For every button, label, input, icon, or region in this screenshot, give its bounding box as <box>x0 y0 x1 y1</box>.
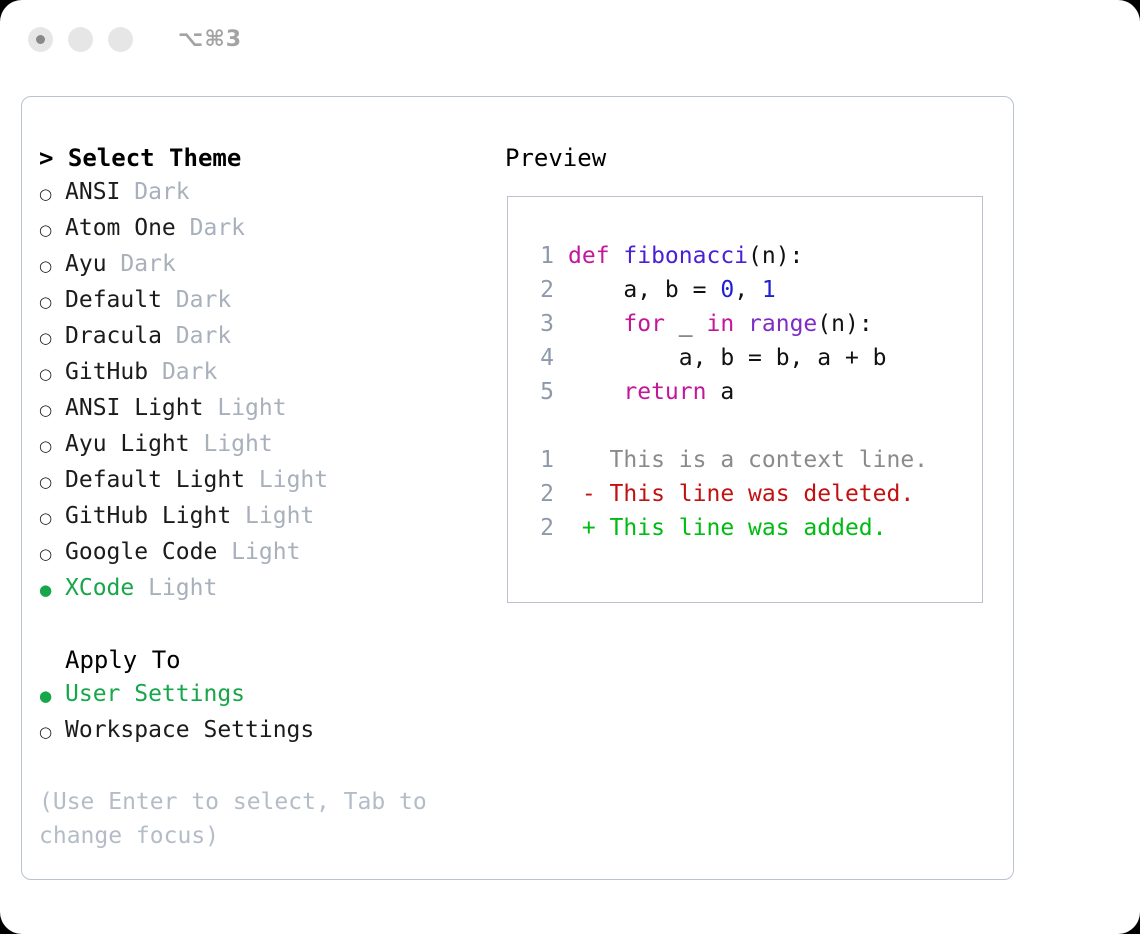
label-spacer <box>231 499 245 533</box>
theme-option-variant: Dark <box>120 247 175 281</box>
theme-option-github-light[interactable]: ○GitHub Light Light <box>39 499 487 535</box>
code-text: a, b = b, a + b <box>568 341 887 375</box>
token-num: 1 <box>762 277 776 303</box>
apply-to-option-workspace-settings[interactable]: ○Workspace Settings <box>39 713 487 749</box>
apply-to-option-user-settings[interactable]: ●User Settings <box>39 677 487 713</box>
diff-line-del: 2 - This line was deleted. <box>524 477 982 511</box>
theme-option-variant: Light <box>231 535 300 569</box>
token-kw: def <box>568 243 623 269</box>
theme-option-default-light[interactable]: ○Default Light Light <box>39 463 487 499</box>
main-panel: > Select Theme ○ANSI Dark○Atom One Dark○… <box>21 96 1014 880</box>
theme-option-variant: Light <box>217 391 286 425</box>
radio-unselected-icon: ○ <box>39 715 65 749</box>
radio-unselected-icon: ○ <box>39 213 65 247</box>
radio-unselected-icon: ○ <box>39 285 65 319</box>
token-plain <box>568 311 623 337</box>
label-spacer <box>245 463 259 497</box>
token-plain: (n): <box>748 243 803 269</box>
token-fn: fibonacci <box>623 243 748 269</box>
token-kw: return <box>623 379 706 405</box>
hint-text: (Use Enter to select, Tab to change focu… <box>39 785 449 853</box>
diff-text: - This line was deleted. <box>568 477 914 511</box>
line-number: 1 <box>524 443 554 477</box>
label-spacer <box>162 319 176 353</box>
theme-option-variant: Dark <box>162 355 217 389</box>
theme-option-label: Ayu <box>65 247 107 281</box>
code-text: a, b = 0, 1 <box>568 273 776 307</box>
line-number: 2 <box>524 511 554 545</box>
token-kw: in <box>706 311 734 337</box>
theme-option-variant: Dark <box>176 283 231 317</box>
theme-list: ○ANSI Dark○Atom One Dark○Ayu Dark○Defaul… <box>39 175 487 607</box>
token-plain: a, b = <box>568 277 720 303</box>
theme-option-variant: Dark <box>176 319 231 353</box>
radio-unselected-icon: ○ <box>39 177 65 211</box>
label-spacer <box>203 391 217 425</box>
apply-to-list: ●User Settings○Workspace Settings <box>39 677 487 749</box>
diff-line-context: 1 This is a context line. <box>524 443 982 477</box>
token-kw: for <box>623 311 665 337</box>
select-theme-heading: > Select Theme <box>39 141 487 175</box>
apply-to-option-label: User Settings <box>65 677 245 711</box>
theme-option-label: Google Code <box>65 535 217 569</box>
diff-text: + This line was added. <box>568 511 887 545</box>
app-window: ⌥⌘3 > Select Theme ○ANSI Dark○Atom One D… <box>0 0 1140 934</box>
close-button[interactable] <box>28 27 53 52</box>
radio-unselected-icon: ○ <box>39 465 65 499</box>
code-preview-box: 1def fibonacci(n):2 a, b = 0, 13 for _ i… <box>507 196 983 603</box>
token-plain: , <box>734 277 762 303</box>
title-bar: ⌥⌘3 <box>0 0 1140 78</box>
token-plain <box>734 311 748 337</box>
apply-to-option-label: Workspace Settings <box>65 713 314 747</box>
label-spacer <box>217 535 231 569</box>
theme-option-dracula[interactable]: ○Dracula Dark <box>39 319 487 355</box>
token-builtin: range <box>748 311 817 337</box>
theme-option-variant: Light <box>203 427 272 461</box>
minimize-button[interactable] <box>68 27 93 52</box>
code-line: 3 for _ in range(n): <box>524 307 982 341</box>
apply-to-heading: Apply To <box>39 643 487 677</box>
theme-option-label: XCode <box>65 571 134 605</box>
radio-unselected-icon: ○ <box>39 357 65 391</box>
preview-heading: Preview <box>505 141 1013 175</box>
label-spacer <box>120 175 134 209</box>
code-sample: 1def fibonacci(n):2 a, b = 0, 13 for _ i… <box>524 239 982 409</box>
theme-option-github[interactable]: ○GitHub Dark <box>39 355 487 391</box>
code-text: return a <box>568 375 734 409</box>
diff-sample: 1 This is a context line.2 - This line w… <box>524 443 982 545</box>
line-number: 5 <box>524 375 554 409</box>
label-spacer <box>190 427 204 461</box>
radio-selected-icon: ● <box>39 679 65 713</box>
radio-unselected-icon: ○ <box>39 249 65 283</box>
theme-option-ansi[interactable]: ○ANSI Dark <box>39 175 487 211</box>
code-line: 1def fibonacci(n): <box>524 239 982 273</box>
radio-unselected-icon: ○ <box>39 501 65 535</box>
theme-option-variant: Light <box>245 499 314 533</box>
theme-option-ayu-light[interactable]: ○Ayu Light Light <box>39 427 487 463</box>
theme-option-label: Default Light <box>65 463 245 497</box>
theme-option-xcode[interactable]: ●XCode Light <box>39 571 487 607</box>
label-spacer <box>176 211 190 245</box>
code-line: 4 a, b = b, a + b <box>524 341 982 375</box>
line-number: 2 <box>524 273 554 307</box>
radio-selected-icon: ● <box>39 573 65 607</box>
theme-option-label: GitHub <box>65 355 148 389</box>
label-spacer <box>134 571 148 605</box>
theme-option-label: Atom One <box>65 211 176 245</box>
radio-unselected-icon: ○ <box>39 321 65 355</box>
token-num: 0 <box>720 277 734 303</box>
theme-option-variant: Dark <box>190 211 245 245</box>
radio-unselected-icon: ○ <box>39 537 65 571</box>
theme-option-ayu[interactable]: ○Ayu Dark <box>39 247 487 283</box>
line-number: 4 <box>524 341 554 375</box>
theme-option-label: Default <box>65 283 162 317</box>
code-line: 2 a, b = 0, 1 <box>524 273 982 307</box>
theme-option-label: ANSI <box>65 175 120 209</box>
label-spacer <box>107 247 121 281</box>
theme-option-variant: Light <box>259 463 328 497</box>
code-text: def fibonacci(n): <box>568 239 803 273</box>
preview-column: Preview 1def fibonacci(n):2 a, b = 0, 13… <box>487 141 1013 853</box>
token-plain: a <box>706 379 734 405</box>
line-number: 1 <box>524 239 554 273</box>
code-text: for _ in range(n): <box>568 307 873 341</box>
label-spacer <box>162 283 176 317</box>
token-plain: a, b = b, a + b <box>568 345 887 371</box>
theme-option-ansi-light[interactable]: ○ANSI Light Light <box>39 391 487 427</box>
diff-line-add: 2 + This line was added. <box>524 511 982 545</box>
theme-option-google-code[interactable]: ○Google Code Light <box>39 535 487 571</box>
close-dot-icon <box>36 35 45 44</box>
token-plain: (n): <box>817 311 872 337</box>
theme-option-variant: Light <box>148 571 217 605</box>
radio-unselected-icon: ○ <box>39 429 65 463</box>
token-plain <box>568 379 623 405</box>
theme-option-atom-one[interactable]: ○Atom One Dark <box>39 211 487 247</box>
maximize-button[interactable] <box>108 27 133 52</box>
theme-picker-column: > Select Theme ○ANSI Dark○Atom One Dark○… <box>22 141 487 853</box>
theme-option-label: Ayu Light <box>65 427 190 461</box>
theme-option-variant: Dark <box>134 175 189 209</box>
theme-option-label: Dracula <box>65 319 162 353</box>
diff-text: This is a context line. <box>568 443 928 477</box>
theme-option-label: ANSI Light <box>65 391 203 425</box>
theme-option-label: GitHub Light <box>65 499 231 533</box>
theme-option-default[interactable]: ○Default Dark <box>39 283 487 319</box>
token-plain: _ <box>665 311 707 337</box>
code-line: 5 return a <box>524 375 982 409</box>
keyboard-shortcut-label: ⌥⌘3 <box>178 27 242 52</box>
line-number: 3 <box>524 307 554 341</box>
label-spacer <box>148 355 162 389</box>
radio-unselected-icon: ○ <box>39 393 65 427</box>
line-number: 2 <box>524 477 554 511</box>
code-diff-spacer <box>524 409 982 443</box>
